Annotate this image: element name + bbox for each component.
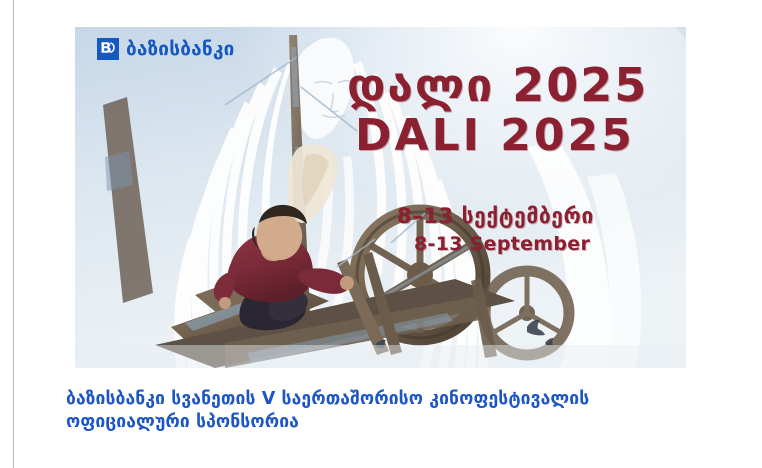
basisbank-logo-lockup: ბაზისბანკი bbox=[97, 38, 235, 60]
festival-dates-ka: 8–13 სექტემბერი bbox=[397, 205, 594, 227]
festival-dates: 8–13 სექტემბერი 8-13 September bbox=[397, 205, 594, 254]
festival-dates-en: 8-13 September bbox=[414, 234, 594, 254]
left-page-rule bbox=[13, 0, 14, 468]
sponsor-caption: ბაზისბანკი სვანეთის V საერთაშორისო კინოფ… bbox=[66, 388, 716, 434]
festival-poster-image: ბაზისბანკი დალი 2025 DALI 2025 8–13 სექტ… bbox=[75, 27, 686, 368]
festival-title-ka: დალი 2025 bbox=[347, 63, 648, 108]
festival-title-en: DALI 2025 bbox=[355, 114, 648, 157]
basisbank-wordmark: ბაზისბანკი bbox=[126, 40, 235, 59]
festival-title: დალი 2025 DALI 2025 bbox=[347, 63, 648, 157]
poster-page: ბაზისბანკი დალი 2025 DALI 2025 8–13 სექტ… bbox=[0, 0, 762, 468]
basisbank-b-logo-icon bbox=[97, 38, 119, 60]
